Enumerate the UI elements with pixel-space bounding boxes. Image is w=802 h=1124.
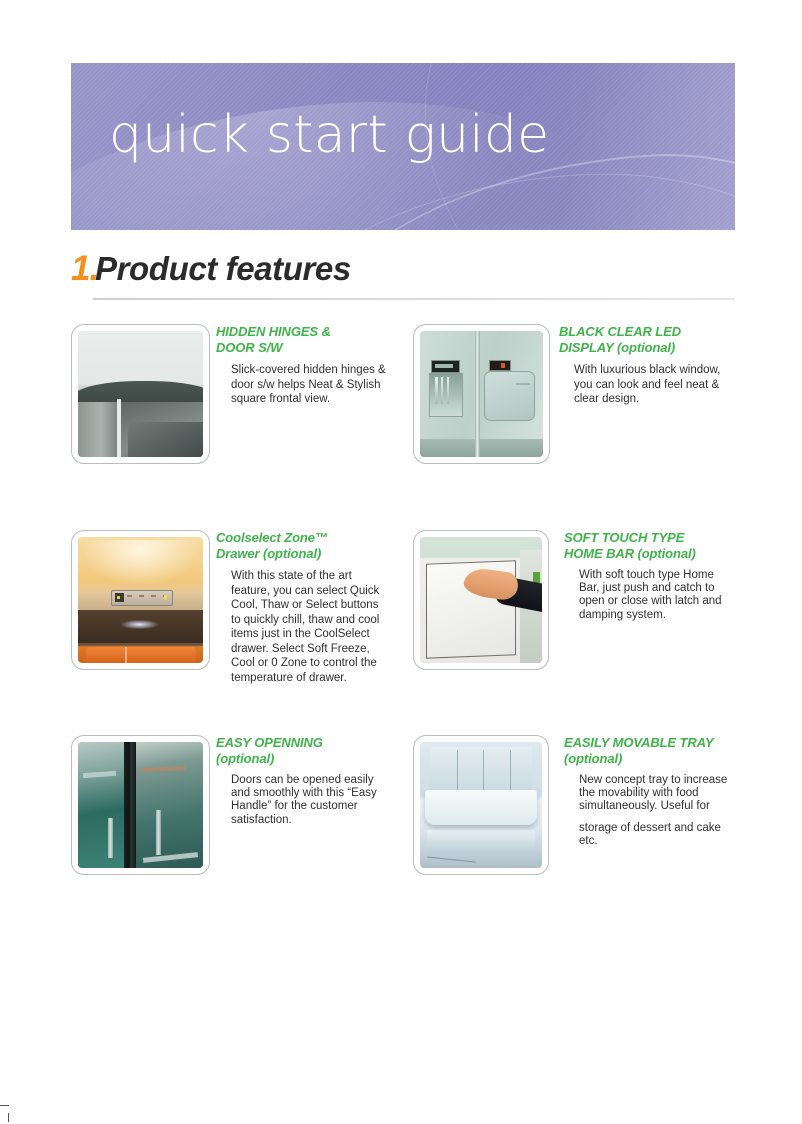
feature-body-continued: storage of dessert and cake etc. <box>579 822 749 848</box>
feature-text: EASY OPENNING (optional) Doors can be op… <box>216 735 396 827</box>
feature-body: Slick-covered hidden hinges & door s/w h… <box>231 363 391 407</box>
feature-text: EASILY MOVABLE TRAY (optional) New conce… <box>564 735 749 848</box>
refrigerator-hinge-photo <box>78 331 203 457</box>
feature-text: Coolselect Zone™ Drawer (optional) With … <box>216 530 396 685</box>
feature-body: With this state of the art feature, you … <box>231 569 396 685</box>
feature-heading: EASILY MOVABLE TRAY (optional) <box>564 735 749 766</box>
feature-body: New concept tray to increase the movabil… <box>579 774 749 814</box>
feature-body: Doors can be opened easily and smoothly … <box>231 774 396 827</box>
feature-thumbnail <box>413 530 549 670</box>
feature-thumbnail <box>71 324 210 464</box>
refrigerator-led-display-photo <box>420 331 543 457</box>
feature-text: HIDDEN HINGES & DOOR S/W Slick-covered h… <box>216 324 391 407</box>
feature-heading: SOFT TOUCH TYPE HOME BAR (optional) <box>564 530 744 561</box>
home-bar-push-photo <box>420 537 542 663</box>
feature-text: SOFT TOUCH TYPE HOME BAR (optional) With… <box>564 530 744 622</box>
feature-heading: HIDDEN HINGES & DOOR S/W <box>216 324 391 355</box>
feature-thumbnail <box>413 735 549 875</box>
feature-thumbnail <box>71 530 210 670</box>
easy-handle-doors-photo <box>78 742 203 868</box>
feature-heading: EASY OPENNING (optional) <box>216 735 396 766</box>
movable-tray-photo <box>420 742 542 868</box>
coolselect-drawer-photo <box>78 537 203 663</box>
feature-heading: BLACK CLEAR LED DISPLAY (optional) <box>559 324 739 355</box>
feature-heading: Coolselect Zone™ Drawer (optional) <box>216 530 396 561</box>
feature-thumbnail <box>71 735 210 875</box>
feature-thumbnail <box>413 324 550 464</box>
feature-text: BLACK CLEAR LED DISPLAY (optional) With … <box>559 324 739 407</box>
feature-body: With luxurious black window, you can loo… <box>574 363 739 407</box>
feature-body: With soft touch type Home Bar, just push… <box>579 569 744 622</box>
feature-grid: HIDDEN HINGES & DOOR S/W Slick-covered h… <box>0 0 802 1124</box>
